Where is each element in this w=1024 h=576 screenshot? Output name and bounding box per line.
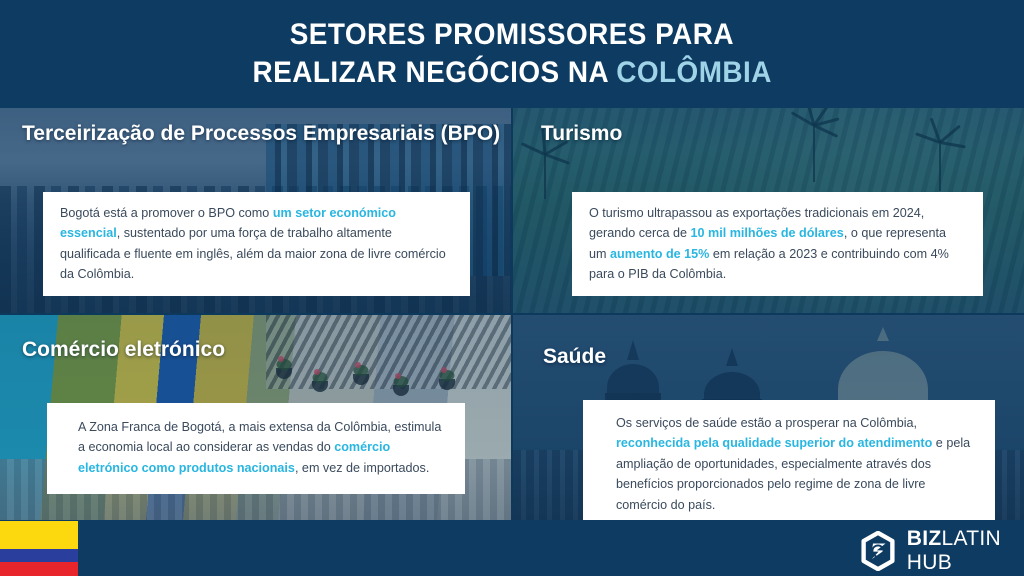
quadrant-body-card-bpo: Bogotá está a promover o BPO como um set… [43,192,470,296]
quadrant-heading-ecommerce: Comércio eletrónico [22,336,225,365]
infographic-slide: SETORES PROMISSORES PARA REALIZAR NEGÓCI… [0,0,1024,576]
logo-word-hub: HUB [907,552,1001,573]
logo-word-biz: BIZ [907,527,942,550]
quadrant-body-card-saude: Os serviços de saúde estão a prosperar n… [583,400,995,520]
quadrant-bpo: Terceirização de Processos Empresariais … [0,108,511,313]
bizlatinhub-hex-icon [858,531,898,571]
colombia-flag [0,521,78,576]
quadrant-ecommerce: Comércio eletrónico A Zona Franca de Bog… [0,315,511,520]
header-title-line1: SETORES PROMISSORES PARA [290,16,734,54]
quadrant-heading-turismo: Turismo [541,120,622,149]
quadrant-heading-bpo: Terceirização de Processos Empresariais … [22,120,500,149]
quadrant-body-card-ecommerce: A Zona Franca de Bogotá, a mais extensa … [47,403,465,494]
flag-stripe-red [0,562,78,576]
header-title-accent: COLÔMBIA [616,56,772,89]
flag-stripe-yellow [0,521,78,549]
header-title-line2-plain: REALIZAR NEGÓCIOS NA [252,56,616,89]
header-banner: SETORES PROMISSORES PARA REALIZAR NEGÓCI… [0,0,1024,108]
quadrant-saude: Saúde Os serviços de saúde estão a prosp… [513,315,1024,520]
quadrant-turismo: Turismo O turismo ultrapassou as exporta… [513,108,1024,313]
quadrant-body-card-turismo: O turismo ultrapassou as exportações tra… [572,192,983,296]
quadrant-grid: Terceirização de Processos Empresariais … [0,108,1024,520]
bizlatinhub-logo[interactable]: BIZLATIN HUB [858,528,1001,573]
bizlatinhub-wordmark: BIZLATIN HUB [907,528,1001,573]
quadrant-heading-saude: Saúde [543,343,606,372]
flag-stripe-blue [0,549,78,563]
logo-word-latin: LATIN [942,527,1001,550]
footer-bar: BIZLATIN HUB [0,520,1024,576]
header-title-line2: REALIZAR NEGÓCIOS NA COLÔMBIA [252,54,771,92]
